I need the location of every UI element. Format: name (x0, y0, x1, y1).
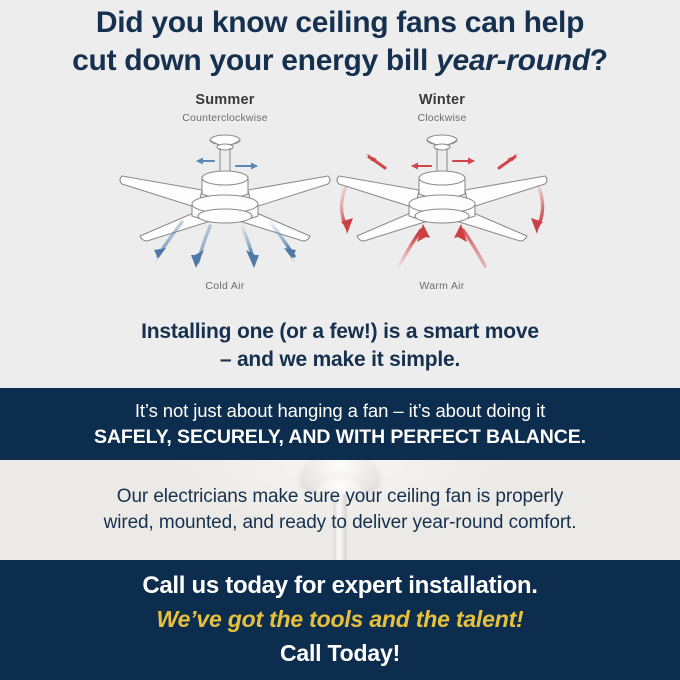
headline-line-2-text: cut down your energy bill (72, 44, 436, 77)
winter-air-label: Warm Air (292, 280, 592, 292)
winter-diagram: Winter Clockwise (292, 92, 592, 307)
safety-line-1: It’s not just about hanging a fan – it’s… (135, 399, 545, 422)
ceiling-fan-updraft-icon (327, 128, 557, 278)
subheadline-line-2: – and we make it simple. (0, 346, 680, 374)
cta-line-2: We’ve got the tools and the talent! (157, 606, 524, 634)
subheadline: Installing one (or a few!) is a smart mo… (0, 318, 680, 373)
safety-message-band: It’s not just about hanging a fan – it’s… (0, 388, 680, 460)
safety-line-2: SAFELY, SECURELY, AND WITH PERFECT BALAN… (94, 425, 586, 449)
headline-emphasis: year-round (436, 44, 590, 77)
cta-line-1: Call us today for expert installation. (142, 572, 537, 601)
winter-subtitle: Clockwise (292, 112, 592, 124)
subheadline-line-1: Installing one (or a few!) is a smart mo… (0, 318, 680, 346)
electricians-line-1: Our electricians make sure your ceiling … (117, 484, 563, 510)
winter-title: Winter (292, 92, 592, 108)
headline-line-2-suffix: ? (590, 44, 608, 77)
call-today-button[interactable]: Call Today! (280, 640, 400, 668)
electricians-line-2: wired, mounted, and ready to deliver yea… (104, 510, 577, 536)
cta-band[interactable]: Call us today for expert installation. W… (0, 560, 680, 680)
electricians-message-band: Our electricians make sure your ceiling … (0, 460, 680, 560)
fan-direction-diagrams: Summer Counterclockwise (0, 92, 680, 307)
headline-line-1: Did you know ceiling fans can help (0, 4, 680, 42)
headline-line-2: cut down your energy bill year-round? (0, 42, 680, 80)
infographic-poster: Did you know ceiling fans can help cut d… (0, 0, 680, 680)
page-title: Did you know ceiling fans can help cut d… (0, 4, 680, 81)
electricians-text: Our electricians make sure your ceiling … (0, 460, 680, 560)
